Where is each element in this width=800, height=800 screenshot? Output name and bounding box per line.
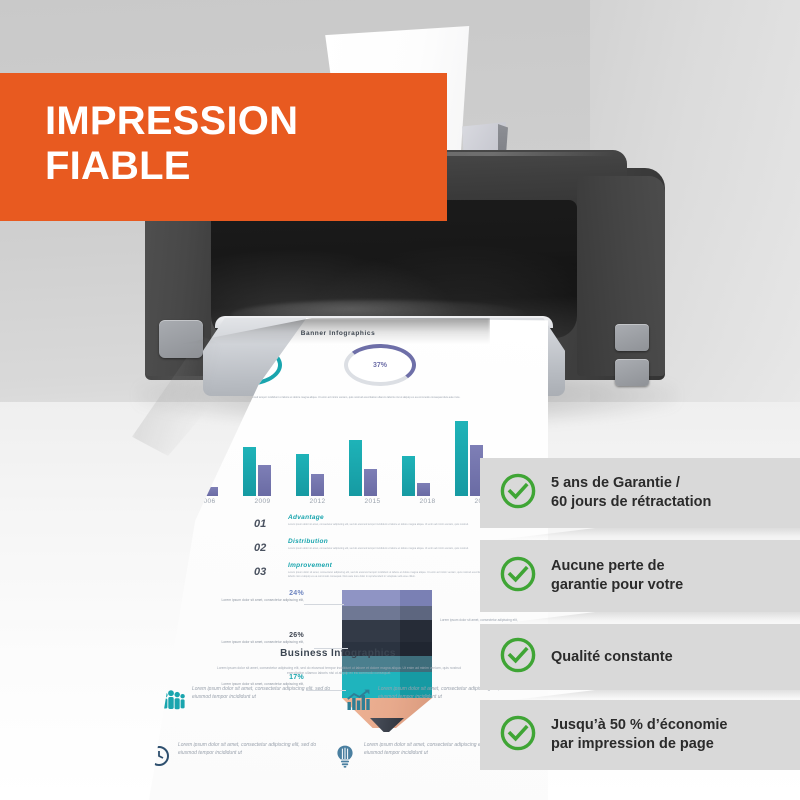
numbered-list: 01 Advantage Lorem ipsum dolor sit amet,… (254, 514, 504, 586)
segment-side (400, 620, 432, 642)
check-circle-icon (499, 714, 537, 757)
list-item: 03 Improvement Lorem ipsum dolor sit ame… (254, 562, 504, 586)
feature-line-2: 60 jours de rétractation (551, 494, 711, 510)
segment-side (400, 606, 432, 620)
list-number: 01 (254, 518, 280, 530)
donut-chart-2: 37% (344, 344, 416, 386)
segment-face (342, 590, 400, 606)
feature-line-1: Qualité constante (551, 649, 673, 665)
axis-tick: 2015 (345, 498, 400, 505)
feature-line-1: Jusqu’à 50 % d’économie (551, 717, 727, 733)
headline-line-1: IMPRESSION (45, 99, 447, 144)
business-cell-text: Lorem ipsum dolor sit amet, consectetur … (192, 686, 340, 701)
check-circle-icon (499, 472, 537, 515)
list-item: 01 Advantage Lorem ipsum dolor sit amet,… (254, 514, 504, 538)
list-heading: Advantage (288, 514, 324, 521)
lightbulb-icon (332, 744, 358, 768)
leader-line-1 (304, 604, 344, 605)
feature-line-1: 5 ans de Garantie / (551, 475, 680, 491)
headline-banner: IMPRESSION FIABLE (0, 73, 447, 221)
leader-line-3 (306, 690, 346, 691)
axis-tick: 2009 (235, 498, 290, 505)
feature-text-2: Aucune perte de garantie pour votre (551, 557, 683, 595)
funnel-text: Lorem ipsum dolor sit amet, consectetur … (154, 640, 304, 645)
panel-button-right-2[interactable] (615, 359, 649, 386)
feature-box-4[interactable]: Jusqu’à 50 % d’économie par impression d… (480, 700, 800, 770)
bar-step-01 (243, 447, 256, 496)
bar-step-02 (311, 474, 324, 496)
bar-step-01 (455, 421, 468, 496)
bar-step-02 (417, 483, 430, 496)
feature-box-1[interactable]: 5 ans de Garantie / 60 jours de rétracta… (480, 458, 800, 528)
feature-box-2[interactable]: Aucune perte de garantie pour votre (480, 540, 800, 612)
pencil-segment-1 (342, 590, 432, 606)
bar-chart-growth-icon (346, 688, 372, 712)
printer-right-side (577, 176, 665, 376)
poster-canvas: Banner Infographics 35% 37% Lorem ipsum … (0, 0, 800, 800)
business-paragraph: Lorem ipsum dolor sit amet, consectetur … (214, 666, 464, 676)
bar-chart-axis: 200620092012201520182023 (180, 498, 510, 505)
list-heading: Improvement (288, 562, 332, 569)
pencil-segment-2 (342, 606, 432, 620)
axis-tick: 2018 (400, 498, 455, 505)
headline-line-2: FIABLE (45, 144, 447, 189)
list-text: Lorem ipsum dolor sit amet, consectetur … (288, 523, 494, 527)
list-text: Lorem ipsum dolor sit amet, consectetur … (288, 547, 494, 551)
donut-label: 37% (344, 344, 416, 386)
list-item: 02 Distribution Lorem ipsum dolor sit am… (254, 538, 504, 562)
feature-line-2: garantie pour votre (551, 577, 683, 593)
feature-box-3[interactable]: Qualité constante (480, 624, 800, 690)
feature-line-2: par impression de page (551, 736, 714, 752)
axis-tick: 2012 (290, 498, 345, 505)
list-text: Lorem ipsum dolor sit amet, consectetur … (288, 571, 494, 579)
check-circle-icon (499, 636, 537, 679)
feature-text-3: Qualité constante (551, 648, 673, 667)
panel-button-right-1[interactable] (615, 324, 649, 351)
bar-step-01 (349, 440, 362, 496)
list-number: 02 (254, 542, 280, 554)
bar-step-02 (364, 469, 377, 496)
funnel-label-2: 26% Lorem ipsum dolor sit amet, consecte… (154, 632, 304, 645)
bar-step-02 (258, 465, 271, 496)
list-number: 03 (254, 566, 280, 578)
list-heading: Distribution (288, 538, 328, 545)
leader-line-2 (314, 648, 348, 649)
feature-line-1: Aucune perte de (551, 558, 665, 574)
business-cell-text: Lorem ipsum dolor sit amet, consectetur … (178, 742, 326, 757)
segment-face (342, 620, 400, 642)
segment-side (400, 590, 432, 606)
feature-text-4: Jusqu’à 50 % d’économie par impression d… (551, 716, 727, 754)
check-circle-icon (499, 555, 537, 598)
bar-step-01 (402, 456, 415, 496)
pencil-segment-3 (342, 620, 432, 642)
segment-face (342, 606, 400, 620)
feature-text-1: 5 ans de Garantie / 60 jours de rétracta… (551, 474, 711, 512)
bar-step-01 (296, 454, 309, 496)
